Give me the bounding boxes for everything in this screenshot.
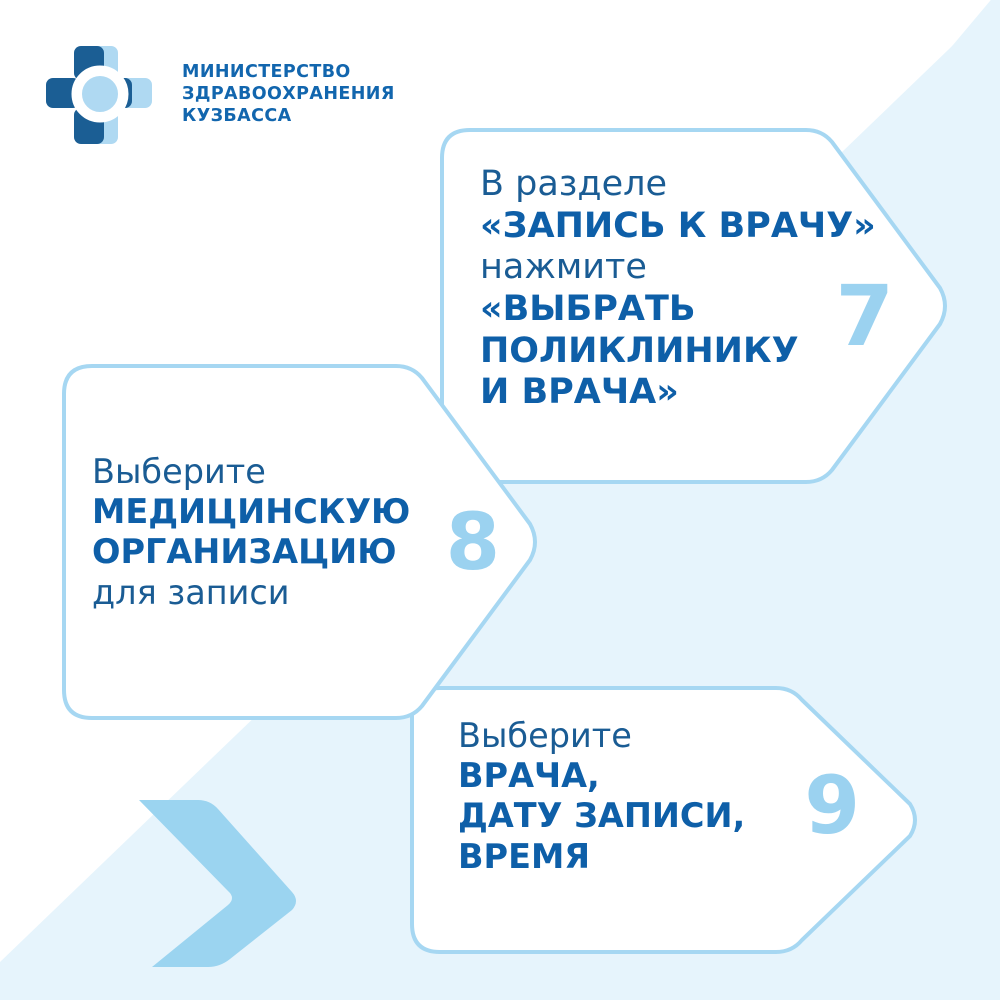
ministry-logo-text: МИНИСТЕРСТВО ЗДРАВООХРАНЕНИЯ КУЗБАССА (182, 62, 395, 128)
step-number-8: 8 (446, 504, 500, 582)
card-9-line-2: ВРАЧА, (458, 756, 838, 796)
card-8-line-4: для записи (92, 573, 442, 613)
card-7-line-4: «ВЫБРАТЬ (480, 289, 860, 331)
card-7-line-3: нажмите (480, 247, 860, 289)
ministry-of-health-cross-logo-icon (42, 42, 164, 148)
infographic-canvas: МИНИСТЕРСТВО ЗДРАВООХРАНЕНИЯ КУЗБАССА В … (0, 0, 1000, 1000)
card-9-line-4: ВРЕМЯ (458, 837, 838, 877)
step-card-9[interactable]: Выберите ВРАЧА, ДАТУ ЗАПИСИ, ВРЕМЯ 9 (410, 686, 922, 954)
step-number-7: 7 (836, 274, 894, 358)
card-9-line-1: Выберите (458, 716, 838, 756)
step-card-9-text: Выберите ВРАЧА, ДАТУ ЗАПИСИ, ВРЕМЯ (458, 716, 838, 877)
card-9-line-3: ДАТУ ЗАПИСИ, (458, 796, 838, 836)
step-number-9: 9 (804, 766, 860, 846)
step-card-8-text: Выберите МЕДИЦИНСКУЮ ОРГАНИЗАЦИЮ для зап… (92, 452, 442, 613)
card-7-line-1: В разделе (480, 164, 860, 206)
card-8-line-2: МЕДИЦИНСКУЮ (92, 492, 442, 532)
card-7-line-2: «ЗАПИСЬ К ВРАЧУ» (480, 206, 860, 248)
step-card-8[interactable]: Выберите МЕДИЦИНСКУЮ ОРГАНИЗАЦИЮ для зап… (62, 364, 542, 720)
card-8-line-3: ОРГАНИЗАЦИЮ (92, 532, 442, 572)
ministry-logo: МИНИСТЕРСТВО ЗДРАВООХРАНЕНИЯ КУЗБАССА (42, 42, 395, 148)
card-8-line-1: Выберите (92, 452, 442, 492)
